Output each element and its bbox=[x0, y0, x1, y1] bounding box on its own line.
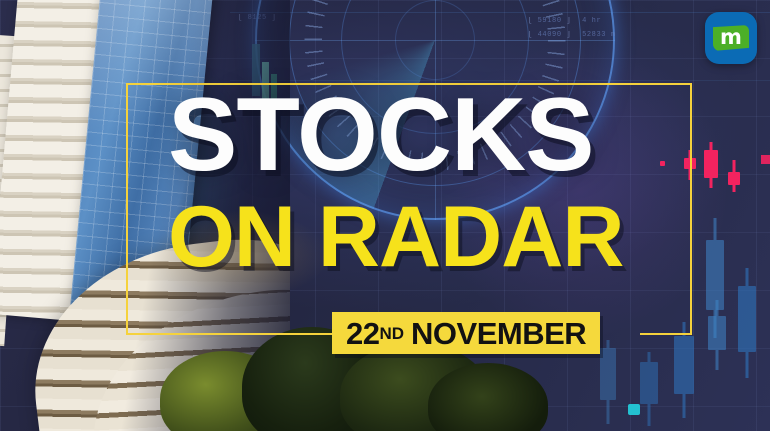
hud-bracket-right: ] bbox=[566, 31, 571, 39]
moneycontrol-logo[interactable]: m bbox=[705, 12, 757, 64]
candlestick-chart-icon bbox=[738, 268, 756, 378]
frame-bottom-right-edge bbox=[640, 333, 692, 335]
date-banner: 22NDNOVEMBER bbox=[332, 312, 600, 354]
page-subtitle: ON RADAR bbox=[168, 198, 708, 277]
cursor-marker bbox=[628, 404, 640, 415]
hud-bracket-left: [ bbox=[528, 17, 533, 25]
hud-value: 59180 bbox=[538, 17, 562, 25]
candlestick-chart-icon bbox=[640, 352, 658, 426]
hud-bracket-right: ] bbox=[566, 17, 571, 25]
hud-trail: 4 hr bbox=[582, 17, 601, 25]
frame-bottom-left-edge bbox=[126, 333, 366, 335]
subtitle-word-on: ON bbox=[168, 189, 295, 285]
candlestick-chart-icon bbox=[674, 322, 694, 418]
candlestick-chart-icon bbox=[600, 340, 616, 424]
candlestick-marker bbox=[761, 155, 770, 164]
hud-bracket-left: [ bbox=[528, 31, 533, 39]
candlestick-chart-icon bbox=[728, 160, 740, 192]
date-ordinal-suffix: ND bbox=[379, 325, 404, 342]
logo-letter: m bbox=[720, 27, 742, 48]
candlestick-chart-icon bbox=[708, 300, 726, 370]
hud-value: 44090 bbox=[538, 31, 562, 39]
hud-readout-right-2: [ 44090 ] 52833 m bbox=[528, 31, 616, 39]
hud-trail: 52833 m bbox=[582, 31, 616, 39]
frame-left-edge bbox=[126, 83, 128, 335]
date-day: 22 bbox=[346, 318, 379, 349]
subtitle-word-radar: RADAR bbox=[318, 189, 624, 285]
radar-crosshair-horizontal bbox=[255, 40, 615, 41]
date-month: NOVEMBER bbox=[411, 318, 586, 349]
hud-readout-right-1: [ 59180 ] 4 hr bbox=[528, 17, 601, 25]
hud-line-top bbox=[230, 12, 770, 13]
candlestick-chart-icon bbox=[704, 142, 718, 188]
page-title: STOCKS bbox=[168, 88, 688, 184]
logo-flag-icon: m bbox=[713, 25, 749, 51]
stocks-on-radar-graphic: [ 8125 ] [ 59180 ] 4 hr [ 44090 ] 52833 … bbox=[0, 0, 770, 431]
